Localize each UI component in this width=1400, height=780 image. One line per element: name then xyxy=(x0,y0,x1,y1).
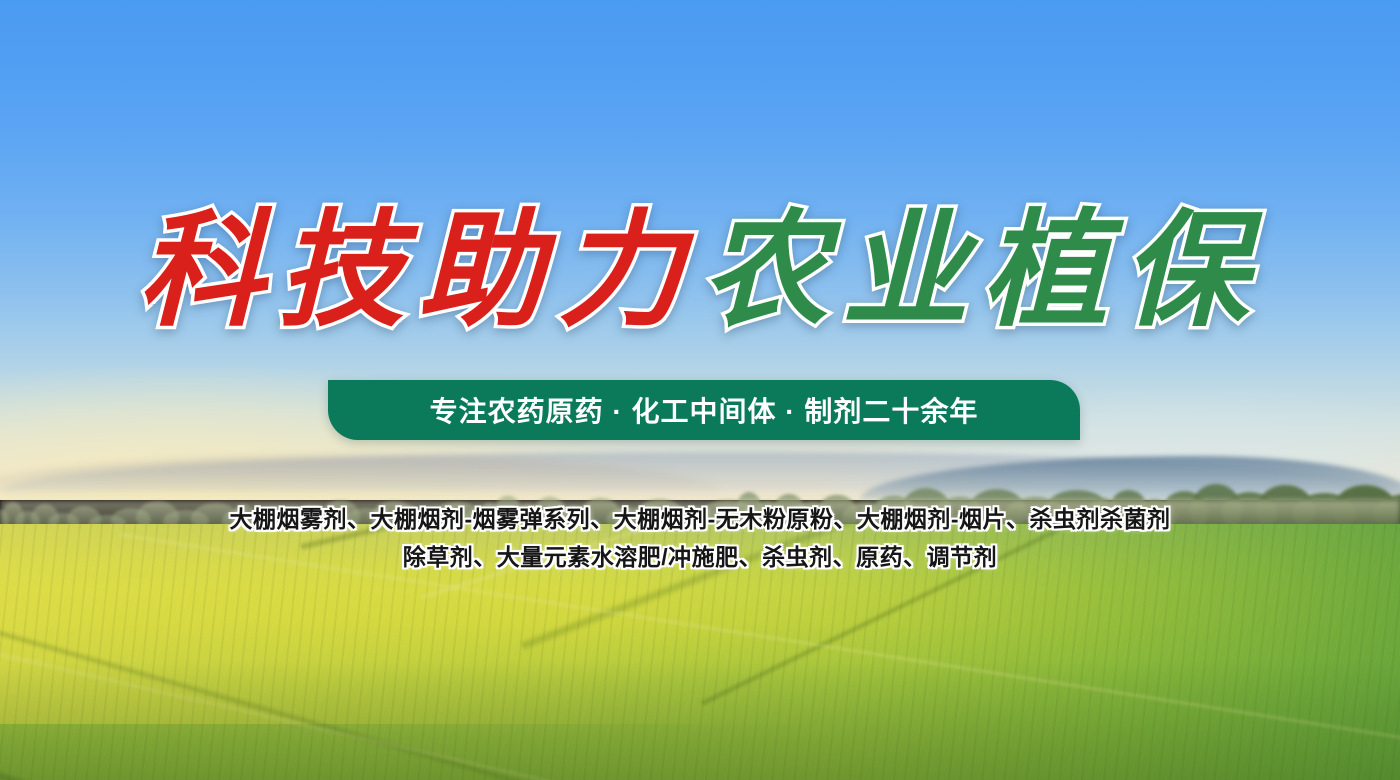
product-list: 大棚烟雾剂、大棚烟剂-烟雾弹系列、大棚烟剂-无木粉原粉、大棚烟剂-烟片、杀虫剂杀… xyxy=(0,500,1400,576)
headline-segment-red: 科技助力 xyxy=(136,206,700,335)
product-line-1: 大棚烟雾剂、大棚烟剂-烟雾弹系列、大棚烟剂-无木粉原粉、大棚烟剂-烟片、杀虫剂杀… xyxy=(0,500,1400,538)
field-foreground-shadow xyxy=(0,660,1400,780)
subtitle-pill: 专注农药原药 · 化工中间体 · 制剂二十余年 xyxy=(328,380,1080,440)
product-line-2: 除草剂、大量元素水溶肥/冲施肥、杀虫剂、原药、调节剂 xyxy=(0,538,1400,576)
headline: 科技助力农业植保 xyxy=(0,206,1400,335)
headline-segment-green: 农业植保 xyxy=(700,206,1264,335)
agriculture-hero-banner: 科技助力农业植保 专注农药原药 · 化工中间体 · 制剂二十余年 大棚烟雾剂、大… xyxy=(0,0,1400,780)
subtitle-pill-text: 专注农药原药 · 化工中间体 · 制剂二十余年 xyxy=(430,390,979,430)
headline-text: 科技助力农业植保 xyxy=(136,206,1264,335)
